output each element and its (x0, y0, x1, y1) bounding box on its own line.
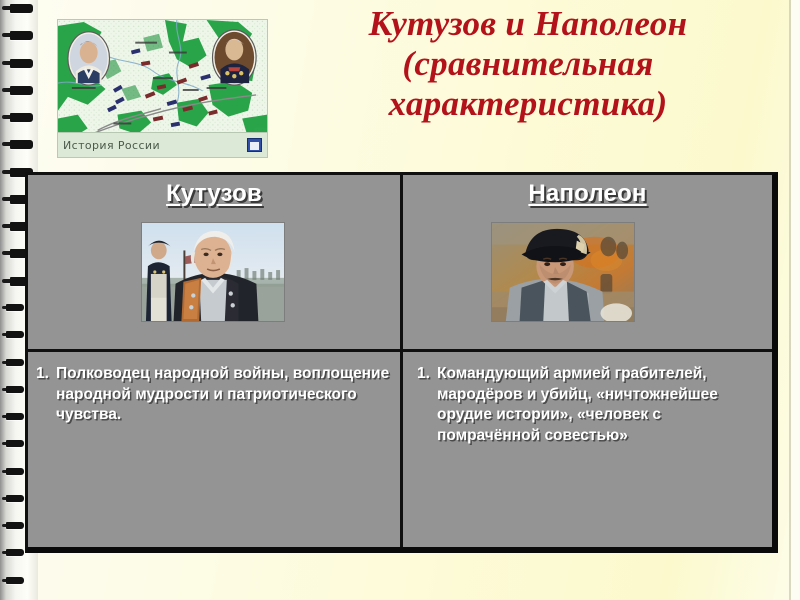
table-cell-napoleon-text: 1. Командующий армией грабителей, мародё… (400, 352, 772, 547)
spiral-ring (2, 549, 26, 558)
table-cell-kutuzov-header: Кутузов (28, 175, 400, 349)
napoleon-portrait-image (492, 223, 634, 321)
spiral-ring (2, 140, 33, 149)
spiral-ring (2, 4, 33, 13)
spiral-ring (2, 359, 26, 368)
kutuzov-list-item: 1. Полководец народной войны, воплощение… (36, 364, 392, 426)
kutuzov-item-number: 1. (36, 364, 56, 385)
page-title: Кутузов и Наполеон (сравнительная характ… (272, 4, 784, 124)
page-right-strip (791, 0, 800, 600)
spiral-ring (2, 31, 33, 40)
table-cell-kutuzov-text: 1. Полководец народной войны, воплощение… (28, 352, 400, 547)
slide: Кутузов и Наполеон (сравнительная характ… (0, 0, 800, 600)
spiral-ring (2, 495, 26, 504)
napoleon-item-text: Командующий армией грабителей, мародёров… (437, 364, 764, 446)
title-line-2: (сравнительная (272, 44, 784, 84)
spiral-ring (2, 577, 26, 586)
comparison-table: Кутузов (25, 172, 778, 553)
spiral-ring (2, 522, 26, 531)
table-cell-napoleon-header: Наполеон (400, 175, 772, 349)
spiral-ring (2, 386, 26, 395)
map-caption-bar: История России (58, 132, 267, 157)
spiral-ring (2, 468, 26, 477)
kutuzov-portrait (141, 222, 285, 322)
spiral-ring (2, 113, 33, 122)
spiral-ring (2, 413, 26, 422)
map-caption-text: История России (63, 139, 247, 152)
column-header-napoleon: Наполеон (403, 180, 772, 208)
screen-icon[interactable] (247, 138, 262, 152)
title-line-1: Кутузов и Наполеон (272, 4, 784, 44)
spiral-ring (2, 440, 26, 449)
spiral-ring (2, 59, 33, 68)
napoleon-portrait (491, 222, 635, 322)
page-right-edge (789, 0, 791, 600)
column-header-kutuzov: Кутузов (28, 180, 400, 208)
spiral-ring (2, 331, 26, 340)
title-line-3: характеристика) (272, 84, 784, 124)
spiral-ring (2, 86, 33, 95)
napoleon-item-number: 1. (417, 364, 437, 385)
table-body-row: 1. Полководец народной войны, воплощение… (28, 349, 772, 547)
spiral-ring (2, 304, 26, 313)
map-thumbnail[interactable]: История России (57, 19, 268, 158)
kutuzov-item-text: Полководец народной войны, воплощение на… (56, 364, 392, 426)
table-header-row: Кутузов (28, 175, 772, 349)
kutuzov-portrait-image (142, 223, 284, 321)
napoleon-list-item: 1. Командующий армией грабителей, мародё… (417, 364, 764, 446)
